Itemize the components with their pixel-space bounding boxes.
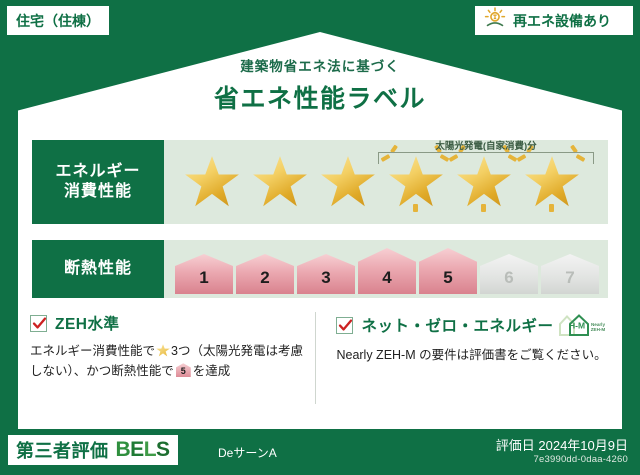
zeh-text-part3: を達成: [193, 364, 231, 378]
insulation-level-5: 5: [418, 248, 478, 294]
star-ray: [413, 204, 418, 212]
bels-jp-label: 第三者評価: [16, 437, 109, 463]
inline-house-icon: 5: [176, 363, 191, 377]
insulation-scale-area: 1234567: [164, 240, 608, 298]
zeh-m-logo-text: H-M: [569, 321, 585, 331]
energy-stars-area: 太陽光発電(自家消費)分: [164, 140, 608, 224]
insulation-house-icon: 3: [297, 254, 355, 294]
insulation-level-number: 7: [565, 268, 574, 294]
inline-star-icon: [156, 344, 170, 357]
certification-sections: ZEH水準 エネルギー消費性能で3つ（太陽光発電は考慮しない）、かつ断熱性能で5…: [30, 312, 610, 404]
star-filled: [246, 146, 314, 218]
energy-performance-row: エネルギー 消費性能 太陽光発電(自家消費)分: [32, 140, 608, 224]
energy-performance-label-key: エネルギー 消費性能: [32, 140, 164, 224]
insulation-level-2: 2: [235, 254, 295, 294]
net-zero-header: ネット・ゼロ・エネルギー H-M Nearly ZEH-M: [336, 312, 610, 338]
insulation-house-icon: 4: [358, 248, 416, 294]
star-icon: [184, 155, 240, 209]
zeh-standard-section: ZEH水準 エネルギー消費性能で3つ（太陽光発電は考慮しない）、かつ断熱性能で5…: [30, 312, 315, 404]
star-ray: [549, 204, 554, 212]
bels-certification-badge: 第三者評価 BELS: [8, 435, 178, 465]
insulation-level-1: 1: [174, 254, 234, 294]
star-ray: [481, 204, 486, 212]
zeh-m-logo-icon: H-M Nearly ZEH-M: [557, 312, 609, 338]
building-name: DeサーンA: [218, 444, 277, 461]
evaluation-id: 7e3990dd-0daa-4260: [534, 454, 628, 465]
net-zero-title: ネット・ゼロ・エネルギー: [361, 314, 553, 336]
solar-bracket-label: 太陽光発電(自家消費)分: [360, 138, 612, 152]
energy-performance-label: 住宅（住棟） 再エネ設備あり 建築物省エネ法に基づく 省エネ性能ラベル: [0, 0, 640, 475]
insulation-house-icon: 5: [419, 248, 477, 294]
renewable-energy-label: 再エネ設備あり: [513, 11, 611, 31]
insulation-level-number: 6: [504, 268, 513, 294]
net-zero-description: Nearly ZEH-M の要件は評価書をご覧ください。: [336, 345, 610, 365]
energy-label-line1: エネルギー: [55, 162, 140, 182]
star-icon: [252, 155, 308, 209]
label-footer: 第三者評価 BELS DeサーンA 評価日 2024年10月9日 7e3990d…: [0, 429, 640, 475]
insulation-level-3: 3: [296, 254, 356, 294]
star-filled: [178, 146, 246, 218]
insulation-label: 断熱性能: [64, 259, 132, 279]
zeh-text-part1: エネルギー消費性能で: [30, 344, 155, 358]
inline-house-number: 5: [176, 366, 191, 377]
energy-label-line2: 消費性能: [64, 182, 132, 202]
checkmark-icon: [336, 317, 353, 334]
insulation-house-icon: 7: [541, 254, 599, 294]
building-type-tag: 住宅（住棟）: [6, 5, 110, 36]
insulation-level-number: 4: [382, 268, 391, 294]
renewable-energy-badge: 再エネ設備あり: [474, 5, 634, 36]
insulation-performance-label-key: 断熱性能: [32, 240, 164, 298]
insulation-house-icon: 2: [236, 254, 294, 294]
zeh-standard-description: エネルギー消費性能で3つ（太陽光発電は考慮しない）、かつ断熱性能で5を達成: [30, 341, 305, 382]
zeh-m-logo-sub2: ZEH-M: [591, 327, 606, 332]
insulation-level-scale: 1234567: [164, 240, 608, 298]
page-title: 省エネ性能ラベル: [0, 79, 640, 115]
sun-icon: [483, 7, 507, 34]
insulation-level-number: 5: [443, 268, 452, 294]
insulation-performance-row: 断熱性能 1234567: [32, 240, 608, 298]
insulation-level-7: 7: [540, 254, 600, 294]
star-icon: [320, 155, 376, 209]
solar-bracket: [378, 152, 594, 164]
insulation-house-icon: 1: [175, 254, 233, 294]
title-subtitle: 建築物省エネ法に基づく: [0, 55, 640, 75]
label-title-block: 建築物省エネ法に基づく 省エネ性能ラベル: [0, 55, 640, 115]
zeh-standard-header: ZEH水準: [30, 312, 305, 334]
checkmark-icon: [30, 315, 47, 332]
building-type-label: 住宅（住棟）: [16, 11, 100, 31]
net-zero-energy-section: ネット・ゼロ・エネルギー H-M Nearly ZEH-M Nearly ZEH…: [315, 312, 610, 404]
insulation-level-number: 2: [260, 268, 269, 294]
insulation-level-6: 6: [479, 254, 539, 294]
insulation-level-4: 4: [357, 248, 417, 294]
star-filled: [314, 146, 382, 218]
insulation-house-icon: 6: [480, 254, 538, 294]
insulation-level-number: 1: [199, 268, 208, 294]
insulation-level-number: 3: [321, 268, 330, 294]
evaluation-date: 評価日 2024年10月9日: [496, 435, 628, 454]
bels-logo: BELS: [116, 438, 170, 462]
zeh-standard-title: ZEH水準: [55, 312, 120, 334]
